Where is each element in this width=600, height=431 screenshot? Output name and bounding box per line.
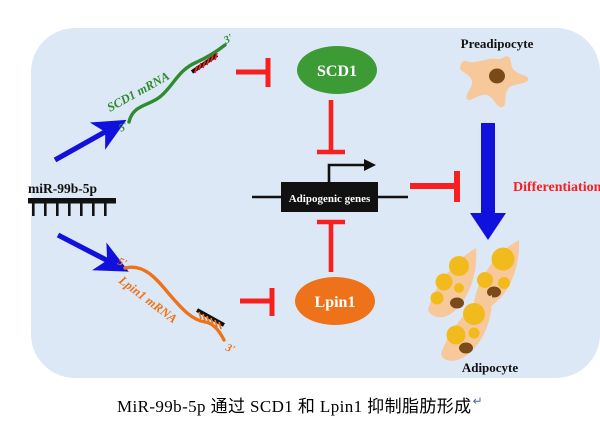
- adipogenic-genes-label: Adipogenic genes: [289, 193, 371, 205]
- figure-caption: MiR-99b-5p 通过 SCD1 和 Lpin1 抑制脂肪形成↵: [0, 392, 600, 417]
- adipocyte-label: Adipocyte: [462, 360, 519, 375]
- figure-root: miR-99b-5p 5' 3' SCD1 mRNA: [0, 0, 600, 431]
- scd1-protein-label: SCD1: [317, 63, 357, 80]
- caption-text: MiR-99b-5p 通过 SCD1 和 Lpin1 抑制脂肪形成: [117, 397, 472, 416]
- lpin1-protein-label: Lpin1: [315, 294, 356, 311]
- mirna-label: miR-99b-5p: [28, 181, 97, 196]
- differentiation-label: Differentiation: [513, 180, 600, 195]
- pathway-diagram: miR-99b-5p 5' 3' SCD1 mRNA: [0, 0, 600, 431]
- caption-pilcrow: ↵: [473, 394, 483, 408]
- preadipocyte-label: Preadipocyte: [461, 36, 534, 51]
